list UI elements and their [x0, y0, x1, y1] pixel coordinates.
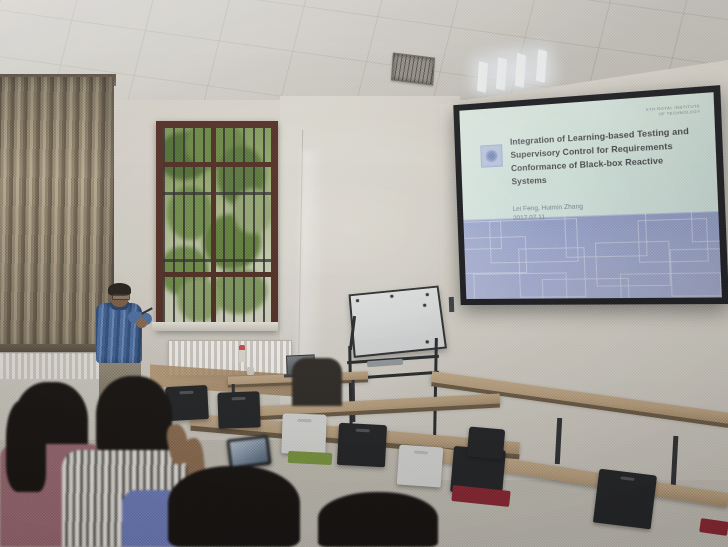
chair-seat-red	[699, 518, 728, 536]
slide-bottom-band	[463, 211, 721, 299]
audience-member-striped-shirt	[96, 376, 172, 460]
audience-member-front-right	[168, 466, 300, 547]
tablet-recording-device	[226, 435, 271, 470]
projected-slide: KTH ROYAL INSTITUTE OF TECHNOLOGY Integr…	[459, 92, 722, 299]
classroom-chair	[593, 469, 657, 530]
whiteboard-magnet	[390, 295, 394, 298]
projection-screen: KTH ROYAL INSTITUTE OF TECHNOLOGY Integr…	[453, 85, 728, 305]
seal-glyph	[485, 150, 497, 163]
window-bar-crossrails	[163, 128, 271, 324]
classroom-chair-white	[397, 445, 444, 488]
classroom-chair	[467, 426, 505, 459]
tablet-screen	[230, 438, 269, 466]
chair-seat-green	[288, 451, 333, 465]
window-mullion-horizontal	[163, 162, 271, 167]
barred-window-with-trees	[156, 121, 278, 331]
classroom-photo: KTH ROYAL INSTITUTE OF TECHNOLOGY Integr…	[0, 0, 728, 547]
classroom-chair-white	[281, 413, 326, 455]
window-mullion-horizontal	[163, 272, 271, 277]
slide-title: Integration of Learning-based Testing an…	[510, 123, 706, 188]
audience-member-far-right	[318, 492, 438, 547]
ceiling-air-vent-icon	[391, 53, 435, 86]
presenter-glasses	[112, 294, 130, 300]
slide-author-block: Lei Feng, Huimin Zhang 2017.07.11	[512, 202, 583, 223]
screen-mount-bracket	[449, 297, 455, 312]
whiteboard-magnet	[426, 293, 430, 296]
window-sill	[152, 322, 278, 331]
classroom-chair	[337, 423, 387, 467]
window-mullion-vertical	[211, 128, 216, 324]
water-bottle	[239, 345, 245, 362]
kth-seal-logo	[480, 144, 503, 167]
whiteboard-surface	[349, 286, 447, 358]
whiteboard-marker-tray	[367, 359, 403, 367]
wall-light-reflection	[298, 150, 326, 380]
whiteboard-magnet	[356, 299, 360, 302]
whiteboard-magnet	[426, 340, 430, 344]
whiteboard-magnet	[423, 304, 427, 308]
audience-member-back	[292, 358, 342, 406]
audience-hair-strand	[6, 400, 46, 492]
small-desk-object	[247, 367, 254, 375]
classroom-chair	[217, 391, 260, 428]
